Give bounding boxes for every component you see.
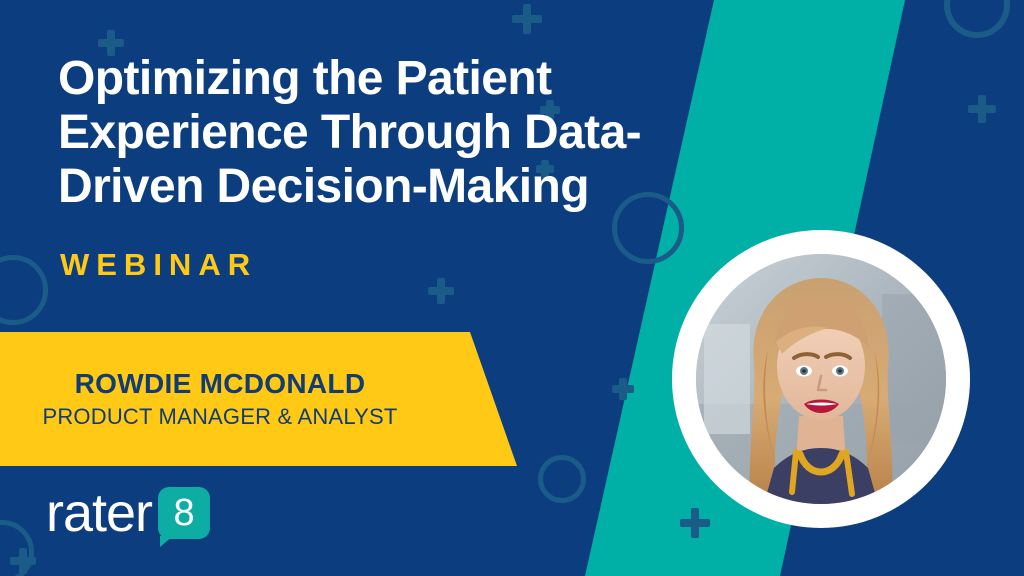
webinar-kicker-label: WEBINAR	[60, 247, 257, 283]
title-line-1: Optimizing the Patient	[58, 52, 758, 106]
plus-right-edge-icon	[968, 95, 996, 123]
speaker-name: ROWDIE MCDONALD	[75, 368, 366, 400]
title-line-3: Driven Decision-Making	[58, 160, 758, 214]
webinar-promo-slide: Optimizing the Patient Experience Throug…	[0, 0, 1024, 576]
title-line-2: Experience Through Data-	[58, 106, 758, 160]
speaker-portrait-ring	[672, 230, 970, 528]
speaker-banner-content: ROWDIE MCDONALD PRODUCT MANAGER & ANALYS…	[0, 332, 440, 466]
plus-bottom-right-icon	[680, 508, 710, 538]
logo-speech-bubble-icon: 8	[158, 487, 210, 539]
plus-bottom-left-icon	[10, 548, 36, 574]
rater8-logo: rater 8	[46, 486, 210, 540]
plus-portrait-left-icon	[612, 378, 634, 400]
plus-webinar-right-icon	[428, 278, 454, 304]
speaker-role: PRODUCT MANAGER & ANALYST	[42, 404, 397, 430]
logo-badge-text: 8	[173, 494, 194, 532]
speaker-photo-illustration	[696, 254, 946, 504]
webinar-title: Optimizing the Patient Experience Throug…	[58, 52, 758, 213]
speaker-banner: ROWDIE MCDONALD PRODUCT MANAGER & ANALYS…	[0, 332, 520, 466]
plus-top-center-icon	[512, 4, 542, 34]
logo-wordmark: rater	[46, 486, 152, 540]
ring-bottom-center-icon	[538, 455, 586, 503]
speaker-avatar	[696, 254, 946, 504]
